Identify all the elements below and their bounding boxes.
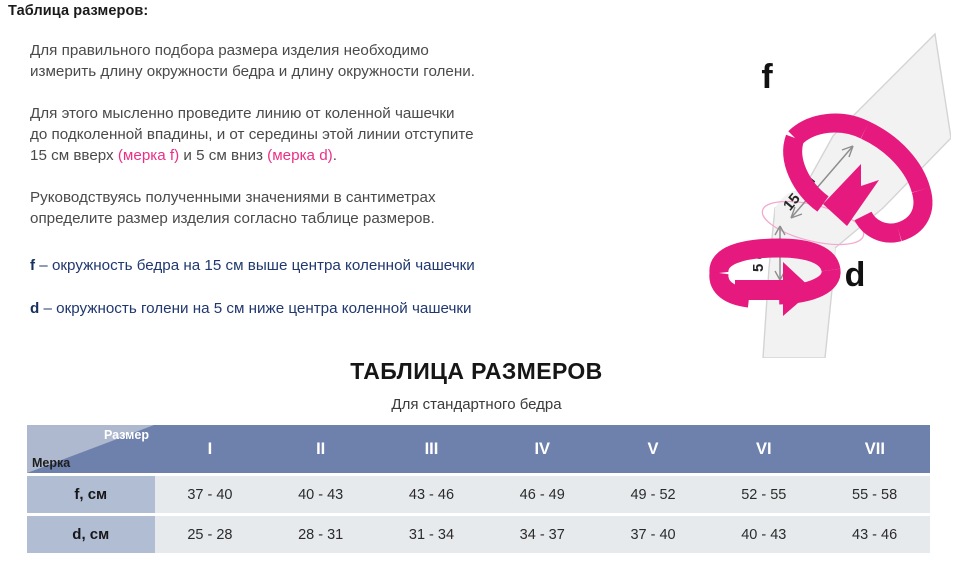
paragraph-3: Руководствуясь полученными значениями в … [30,187,670,229]
paragraph-1-line-2: измерить длину окружности бедра и длину … [30,63,475,80]
legend-d-dash: – [39,300,56,317]
measure-f-label: f [761,58,773,96]
paragraph-2-line-3-c: . [333,147,337,164]
column-header-5: V [598,425,709,475]
paragraph-2-line-2: до подколенной впадины, и от середины эт… [30,126,474,143]
measure-d-note: (мерка d) [267,147,333,164]
column-header-1: I [155,425,266,475]
paragraph-2-line-3-b: и 5 см вниз [179,147,267,164]
cell-d-6: 40 - 43 [708,515,819,554]
table-row: f, см 37 - 40 40 - 43 43 - 46 46 - 49 49… [27,475,930,515]
row-label-d: d, см [27,515,155,554]
paragraph-2: Для этого мысленно проведите линию от ко… [30,103,670,166]
size-table-title: ТАБЛИЦА РАЗМЕРОВ [0,358,953,385]
size-table-container: Размер Мерка I II III IV V VI VII f, см … [27,425,930,553]
table-row: d, см 25 - 28 28 - 31 31 - 34 34 - 37 37… [27,515,930,554]
paragraph-1: Для правильного подбора размера изделия … [30,40,670,82]
cell-d-1: 25 - 28 [155,515,266,554]
cell-d-7: 43 - 46 [819,515,930,554]
cell-f-3: 43 - 46 [376,475,487,515]
cell-f-1: 37 - 40 [155,475,266,515]
cell-d-2: 28 - 31 [265,515,376,554]
paragraph-3-line-1: Руководствуясь полученными значениями в … [30,189,436,206]
cell-d-3: 31 - 34 [376,515,487,554]
cell-f-5: 49 - 52 [598,475,709,515]
knee-measurement-diagram: 15 см 5 см f d [683,18,951,358]
paragraph-2-line-3-a: 15 см вверх [30,147,118,164]
cell-d-5: 37 - 40 [598,515,709,554]
table-corner-cell: Размер Мерка [27,425,155,475]
row-label-f: f, см [27,475,155,515]
corner-size-label: Размер [104,428,149,442]
legend-f-dash: – [35,257,52,274]
legend-f: f – окружность бедра на 15 см выше центр… [30,255,670,276]
paragraph-3-line-2: определите размер изделия согласно табли… [30,210,435,227]
column-header-3: III [376,425,487,475]
cell-f-7: 55 - 58 [819,475,930,515]
legend-d-mark: d [30,300,39,317]
measure-f-note: (мерка f) [118,147,179,164]
paragraph-1-line-1: Для правильного подбора размера изделия … [30,42,429,59]
legend-d-text: окружность голени на 5 см ниже центра ко… [56,300,471,317]
cell-f-6: 52 - 55 [708,475,819,515]
cell-d-4: 34 - 37 [487,515,598,554]
legend-d: d – окружность голени на 5 см ниже центр… [30,298,670,319]
page-title: Таблица размеров: [8,3,148,19]
table-header-row: Размер Мерка I II III IV V VI VII [27,425,930,475]
measure-d-label: d [845,256,866,294]
corner-measure-label: Мерка [32,456,70,470]
size-table: Размер Мерка I II III IV V VI VII f, см … [27,425,930,553]
paragraph-2-line-1: Для этого мысленно проведите линию от ко… [30,105,455,122]
column-header-6: VI [708,425,819,475]
legend-f-text: окружность бедра на 15 см выше центра ко… [52,257,475,274]
column-header-4: IV [487,425,598,475]
intro-text-block: Для правильного подбора размера изделия … [30,40,670,341]
cell-f-2: 40 - 43 [265,475,376,515]
size-table-subtitle: Для стандартного бедра [0,396,953,413]
column-header-7: VII [819,425,930,475]
cell-f-4: 46 - 49 [487,475,598,515]
column-header-2: II [265,425,376,475]
